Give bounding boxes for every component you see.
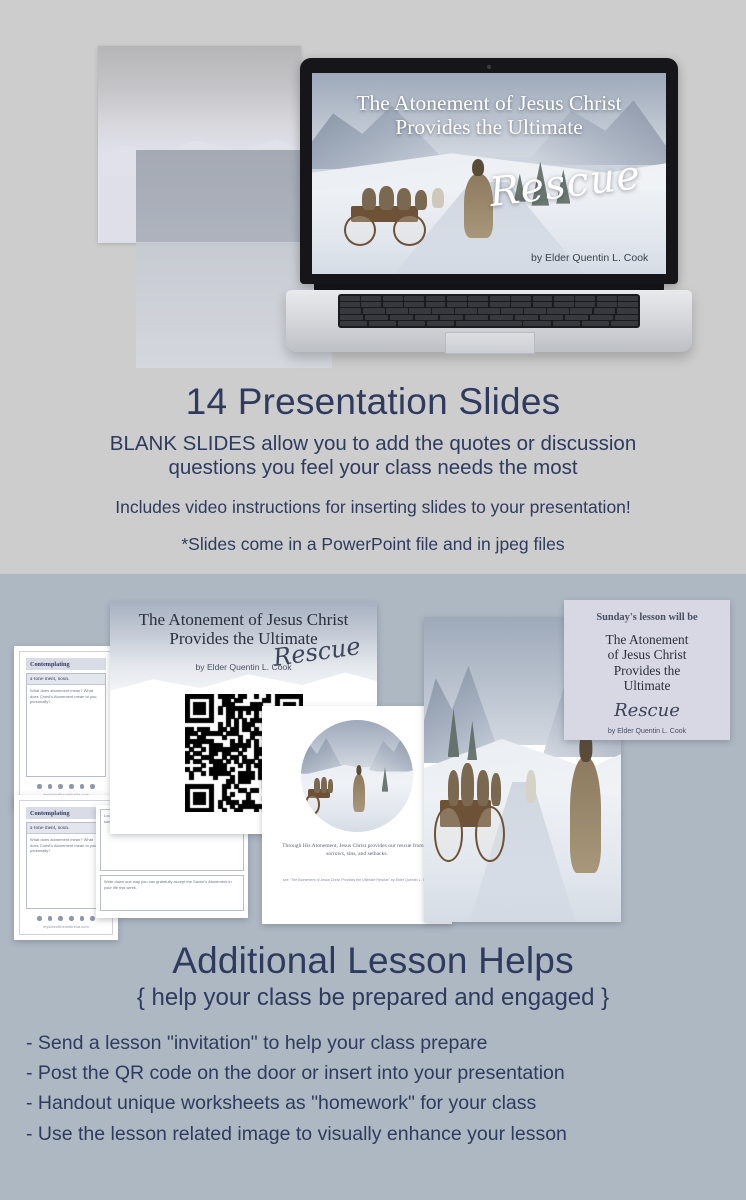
qr-flyer-byline: by Elder Quentin L. Cook xyxy=(110,662,377,672)
lesson-art-christ-figure xyxy=(570,757,602,873)
laptop-trackpad xyxy=(445,332,535,354)
round-art-pioneer xyxy=(328,779,333,792)
invitation-byline: by Elder Quentin L. Cook xyxy=(564,728,730,735)
product-listing-image: The Atonement of Jesus Christ Provides t… xyxy=(0,0,746,1200)
round-art-pioneer xyxy=(321,777,327,793)
screen-art-pioneer xyxy=(362,188,376,210)
worksheet-2-prompt: What does atonement mean? What does Chri… xyxy=(30,837,102,854)
worksheet-2-box: a·tone·ment, noun. What does atonement m… xyxy=(26,822,106,909)
qr-flyer-title-line1: The Atonement of Jesus Christ xyxy=(139,610,349,629)
helps-heading: Additional Lesson Helps xyxy=(0,940,746,982)
slides-heading: 14 Presentation Slides xyxy=(0,381,746,423)
invitation-title: The Atonement of Jesus Christ Provides t… xyxy=(564,632,730,693)
invitation-lead-line: Sunday's lesson will be xyxy=(564,612,730,623)
worksheet-1-prompt: What does atonement mean? What does Chri… xyxy=(30,688,102,705)
lesson-art-pioneer xyxy=(448,770,460,807)
slides-file-note: *Slides come in a PowerPoint file and in… xyxy=(0,534,746,555)
lesson-art-pioneer xyxy=(461,763,474,806)
list-item: - Post the QR code on the door or insert… xyxy=(26,1058,726,1088)
laptop-screen: The Atonement of Jesus Christ Provides t… xyxy=(312,73,666,274)
invitation-title-line4: Ultimate xyxy=(624,678,671,693)
list-item: - Send a lesson "invitation" to help you… xyxy=(26,1028,726,1058)
lesson-art-pioneer xyxy=(477,770,489,807)
helps-bullet-list: - Send a lesson "invitation" to help you… xyxy=(26,1028,726,1149)
invitation-title-line3: Provides the xyxy=(614,663,681,678)
screen-art-cart-wheel xyxy=(393,214,425,246)
invitation-title-line1: The Atonement xyxy=(606,632,689,647)
lesson-art-pioneer xyxy=(491,773,501,807)
round-handout-image xyxy=(301,720,413,832)
slides-video-note: Includes video instructions for insertin… xyxy=(0,497,746,518)
slides-subheading-line2: questions you feel your class needs the … xyxy=(168,456,577,479)
worksheet-1-page: Contemplating a·tone·ment, noun. What do… xyxy=(19,651,113,803)
slide-title-line1: The Atonement of Jesus Christ xyxy=(356,91,621,115)
invitation-title-line2: of Jesus Christ xyxy=(608,647,687,662)
round-art-cart-wheel xyxy=(305,794,319,815)
webcam-icon xyxy=(487,65,491,69)
worksheet-3-cell-2: Write down one way you can gratefully ac… xyxy=(100,875,244,911)
screen-art-pioneer xyxy=(379,186,394,210)
screen-art-pioneer xyxy=(415,190,428,210)
lesson-art-pioneer xyxy=(526,770,536,804)
round-art-christ-figure xyxy=(353,774,365,812)
laptop-mockup: The Atonement of Jesus Christ Provides t… xyxy=(286,58,692,368)
slide-title-line2: Provides the Ultimate xyxy=(395,115,583,139)
list-item: - Use the lesson related image to visual… xyxy=(26,1119,726,1149)
invitation-card: Sunday's lesson will be The Atonement of… xyxy=(564,600,730,740)
worksheet-2-url: mysideoftheumbrella.com xyxy=(20,925,112,929)
laptop-keyboard xyxy=(338,294,640,328)
slide-byline: by Elder Quentin L. Cook xyxy=(531,252,648,264)
worksheet-card-1: Contemplating a·tone·ment, noun. What do… xyxy=(14,646,118,808)
blank-slide-sky xyxy=(98,46,301,148)
laptop-lid: The Atonement of Jesus Christ Provides t… xyxy=(300,58,678,284)
slides-subheading: BLANK SLIDES allow you to add the quotes… xyxy=(0,432,746,480)
screen-art-cart-wheel xyxy=(344,214,376,246)
worksheet-1-header: Contemplating xyxy=(26,658,106,670)
screen-art-pioneer xyxy=(432,188,444,208)
worksheet-3-prompt-2: Write down one way you can gratefully ac… xyxy=(104,879,240,890)
list-item: - Handout unique worksheets as "homework… xyxy=(26,1088,726,1118)
screen-art-pioneer xyxy=(397,188,411,210)
lesson-art-cart-wheel xyxy=(475,806,505,862)
worksheet-1-dots xyxy=(20,784,112,789)
invitation-script-word: Rescue xyxy=(564,700,730,721)
round-art-pioneer xyxy=(314,778,320,793)
slide-title: The Atonement of Jesus Christ Provides t… xyxy=(312,91,666,139)
worksheet-2-word: a·tone·ment, noun. xyxy=(27,823,105,834)
worksheet-1-box: a·tone·ment, noun. What does atonement m… xyxy=(26,673,106,777)
worksheet-1-word: a·tone·ment, noun. xyxy=(27,674,105,685)
slides-subheading-line1: BLANK SLIDES allow you to add the quotes… xyxy=(110,432,636,455)
worksheet-2-header: Contemplating xyxy=(26,807,106,819)
helps-subheading: { help your class be prepared and engage… xyxy=(0,984,746,1012)
